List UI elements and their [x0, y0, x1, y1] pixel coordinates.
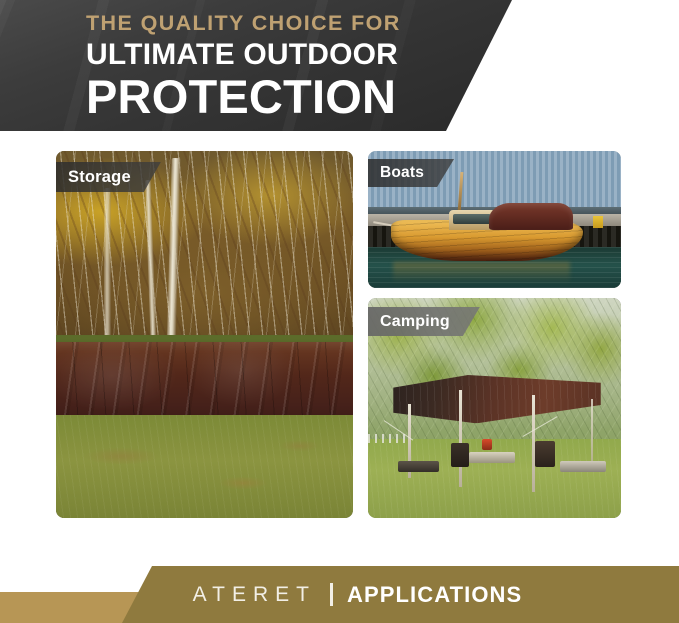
panel-label-storage: Storage — [56, 162, 161, 192]
boat-flag-icon — [593, 216, 603, 228]
birch-trunk-icon — [104, 188, 111, 357]
camp-cot — [560, 461, 606, 472]
camp-chair — [535, 441, 555, 467]
camp-cot — [398, 461, 438, 472]
camp-lantern-icon — [482, 439, 492, 450]
tarp-pole — [459, 390, 462, 487]
header-banner: THE QUALITY CHOICE FOR ULTIMATE OUTDOOR … — [0, 0, 512, 131]
boat-canvas-cover — [489, 203, 572, 230]
park-fence — [368, 434, 408, 443]
brand-name: ATERET — [193, 583, 316, 607]
tarp-pole — [591, 399, 594, 465]
boat-reflection — [393, 262, 570, 283]
header-headline-line-1: ULTIMATE OUTDOOR — [86, 38, 512, 72]
panel-camping: Camping — [368, 298, 621, 518]
header-text-block: THE QUALITY CHOICE FOR ULTIMATE OUTDOOR … — [86, 12, 512, 122]
panel-boats: Boats — [368, 151, 621, 288]
boat-cabin — [449, 210, 495, 231]
camp-table — [469, 452, 515, 463]
storage-photo — [56, 151, 353, 518]
footer-text-block: ATERET APPLICATIONS — [0, 566, 679, 623]
header-headline-line-2: PROTECTION — [86, 72, 512, 121]
header-kicker: THE QUALITY CHOICE FOR — [86, 12, 512, 35]
footer-divider — [330, 583, 333, 606]
storage-lawn — [56, 415, 353, 518]
camp-chair — [451, 443, 469, 467]
camping-lawn — [368, 439, 621, 518]
footer-section-title: APPLICATIONS — [347, 582, 522, 608]
panel-label-camping: Camping — [368, 307, 480, 336]
brown-tarp — [56, 342, 353, 426]
panel-storage: Storage — [56, 151, 353, 518]
